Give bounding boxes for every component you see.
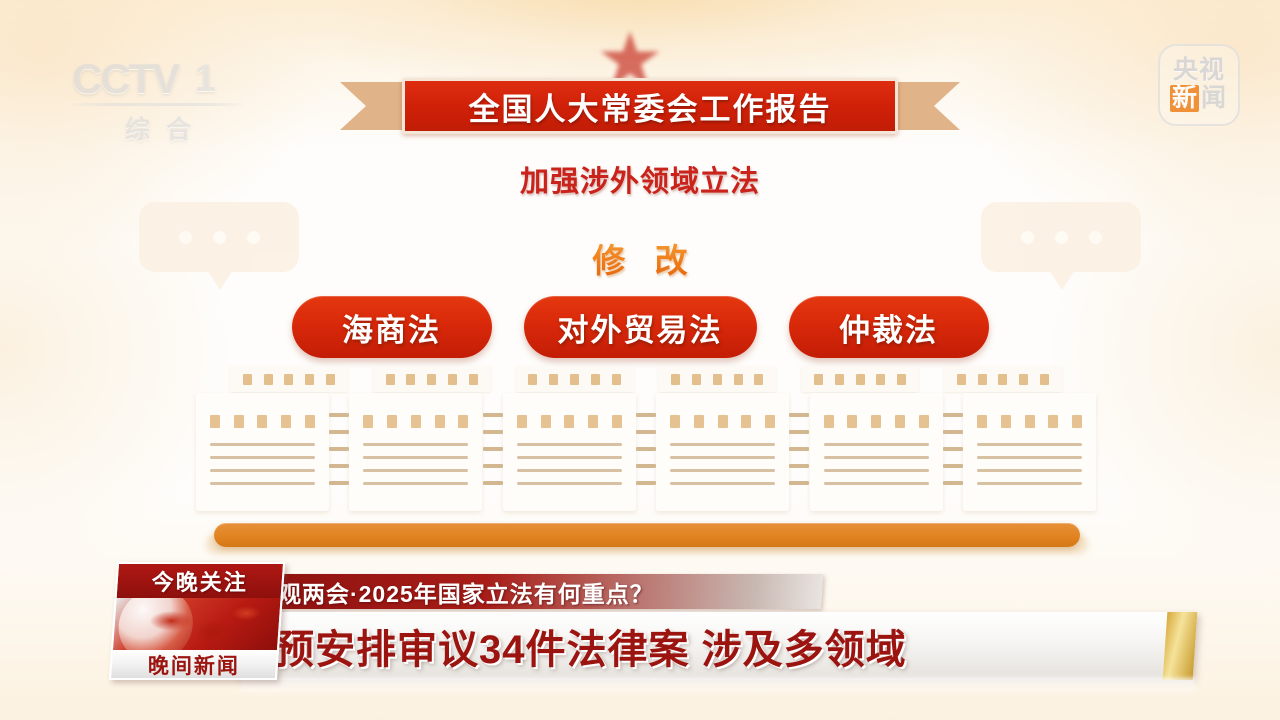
document-stack-illustration <box>196 366 1096 541</box>
lower-third-chyron: 观两会·2025年国家立法有何重点？ 预安排审议34件法律案 涉及多领域 今晚关… <box>0 560 1280 720</box>
cctv-logo-text: CCTV <box>72 58 178 100</box>
watermark-line-2: 新 闻 <box>1170 85 1228 112</box>
speech-bubble-right-icon <box>981 202 1141 272</box>
chyron-kicker-text: 观两会·2025年国家立法有何重点？ <box>278 575 654 609</box>
watermark-line-1: 央视 <box>1173 58 1225 83</box>
cctv-channel-subtitle: 综合 <box>72 110 244 146</box>
ladder-separator <box>636 393 657 511</box>
title-ribbon: 全国人大常委会工作报告 <box>340 78 960 134</box>
roof-block <box>516 366 634 392</box>
ladder-separator <box>943 393 964 511</box>
card-dot-row <box>210 415 315 428</box>
gold-accent-stripe <box>1163 612 1198 680</box>
law-pill-0[interactable]: 海商法 <box>292 296 492 358</box>
cctv-channel-number: 1 <box>184 58 224 100</box>
law-pill-1[interactable]: 对外贸易法 <box>524 296 757 358</box>
roof-block <box>373 366 491 392</box>
cctv-channel-logo: CCTV 1 综合 <box>72 58 258 144</box>
law-pill-2[interactable]: 仲裁法 <box>789 296 989 358</box>
document-card <box>503 393 636 511</box>
card-dot-row <box>824 415 929 428</box>
law-pill-label: 对外贸易法 <box>558 305 723 350</box>
cctv-logo-rule <box>72 103 242 106</box>
chyron-kicker-bar: 观两会·2025年国家立法有何重点？ <box>261 574 823 609</box>
banner-subtitle: 加强涉外领域立法 <box>0 158 1280 200</box>
card-line-group <box>517 443 622 485</box>
program-name-band: 晚间新闻 <box>111 650 277 680</box>
roof-block-row <box>230 366 1062 394</box>
roof-block <box>801 366 919 392</box>
roof-block <box>944 366 1062 392</box>
broadcast-graphic-stage: CCTV 1 综合 央视 新 闻 全国人大常委会工作报告 加强涉外领域立法 修 … <box>0 0 1280 720</box>
ellipsis-dots-right <box>981 202 1141 272</box>
document-card <box>196 393 329 511</box>
speech-bubble-left-icon <box>139 202 299 272</box>
program-tag-text: 今晚关注 <box>152 565 248 597</box>
watermark-plain-char: 闻 <box>1199 85 1228 112</box>
law-pill-list: 海商法 对外贸易法 仲裁法 <box>0 294 1280 360</box>
ladder-separator <box>482 393 503 511</box>
ladder-separator <box>329 393 350 511</box>
card-dot-row <box>363 415 468 428</box>
program-logo-block: 今晚关注 晚间新闻 <box>109 562 285 680</box>
globe-graphic-icon <box>113 598 281 650</box>
watermark-highlight-char: 新 <box>1170 85 1199 112</box>
banner-title: 全国人大常委会工作报告 <box>469 84 832 129</box>
card-dot-row <box>517 415 622 428</box>
program-name-text: 晚间新闻 <box>148 650 240 680</box>
card-dot-row <box>977 415 1082 428</box>
cctv-logo-wordmark: CCTV 1 <box>72 58 258 100</box>
card-line-group <box>977 443 1082 485</box>
cctv-news-watermark: 央视 新 闻 <box>1158 44 1240 126</box>
document-card <box>349 393 482 511</box>
card-dot-row <box>670 415 775 428</box>
law-pill-label: 仲裁法 <box>839 305 938 350</box>
document-card <box>810 393 943 511</box>
ribbon-core: 全国人大常委会工作报告 <box>402 78 898 134</box>
base-bar <box>214 523 1080 547</box>
card-line-group <box>363 443 468 485</box>
ladder-separator <box>789 393 810 511</box>
chyron-headline-bar: 预安排审议34件法律案 涉及多领域 <box>238 612 1198 680</box>
card-line-group <box>824 443 929 485</box>
roof-block <box>230 366 348 392</box>
roof-block <box>658 366 776 392</box>
globe-landmass <box>142 598 266 650</box>
chyron-highlight-glow <box>239 678 1195 696</box>
card-line-group <box>670 443 775 485</box>
program-tag-band: 今晚关注 <box>117 564 283 598</box>
document-card <box>656 393 789 511</box>
document-card <box>963 393 1096 511</box>
ellipsis-dots-left <box>139 202 299 272</box>
law-pill-label: 海商法 <box>342 305 441 350</box>
chyron-headline-text: 预安排审议34件法律案 涉及多领域 <box>274 617 907 675</box>
document-card-row <box>196 393 1096 513</box>
card-line-group <box>210 443 315 485</box>
